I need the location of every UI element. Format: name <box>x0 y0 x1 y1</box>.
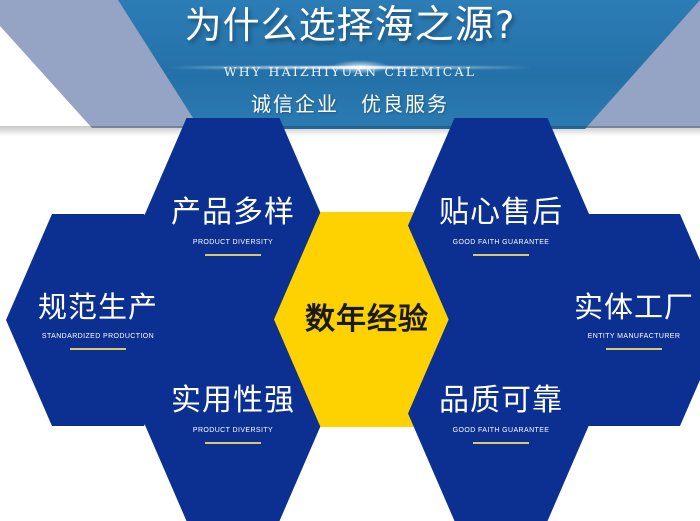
hex-label-cn: 数年经验 <box>305 303 429 337</box>
hex-divider-dash <box>205 254 261 256</box>
hex-divider-dash <box>205 442 261 444</box>
hex-label-en: GOOD FAITH GUARANTEE <box>453 239 550 246</box>
title-brand: 海之源 <box>375 3 495 48</box>
banner-text-group: 为什么选择海之源? WHY HAIZHIYUAN CHEMICAL 诚信企业 优… <box>0 0 700 132</box>
hex-divider-dash <box>606 348 662 350</box>
hexagon-feature-grid: 规范生产 STANDARDIZED PRODUCTION 产品多样 PRODUC… <box>0 140 700 480</box>
header-banner: 为什么选择海之源? WHY HAIZHIYUAN CHEMICAL 诚信企业 优… <box>0 0 700 140</box>
hex-label-en: PRODUCT DIVERSITY <box>193 427 273 434</box>
page-title: 为什么选择海之源? <box>0 4 700 48</box>
banner-subtitle-english: WHY HAIZHIYUAN CHEMICAL <box>0 64 700 79</box>
hex-label-en: PRODUCT DIVERSITY <box>193 239 273 246</box>
hex-label-cn: 实体工厂 <box>574 290 694 324</box>
hex-label-cn: 实用性强 <box>171 384 295 418</box>
hex-divider-dash <box>70 348 126 350</box>
title-question-mark: ? <box>495 4 516 47</box>
banner-subtitle-chinese: 诚信企业 优良服务 <box>0 88 700 117</box>
hex-divider-dash <box>473 442 529 444</box>
hex-label-cn: 产品多样 <box>171 196 295 230</box>
hex-label-en: STANDARDIZED PRODUCTION <box>42 333 154 340</box>
title-prefix: 为什么选择 <box>185 4 375 47</box>
hex-label-cn: 品质可靠 <box>439 384 563 418</box>
hex-label-en: ENTITY MANUFACTURER <box>588 333 681 340</box>
hex-divider-dash <box>473 254 529 256</box>
hex-label-cn: 规范生产 <box>38 290 158 324</box>
hex-label-cn: 贴心售后 <box>439 196 563 230</box>
hex-label-en: GOOD FAITH GUARANTEE <box>453 427 550 434</box>
